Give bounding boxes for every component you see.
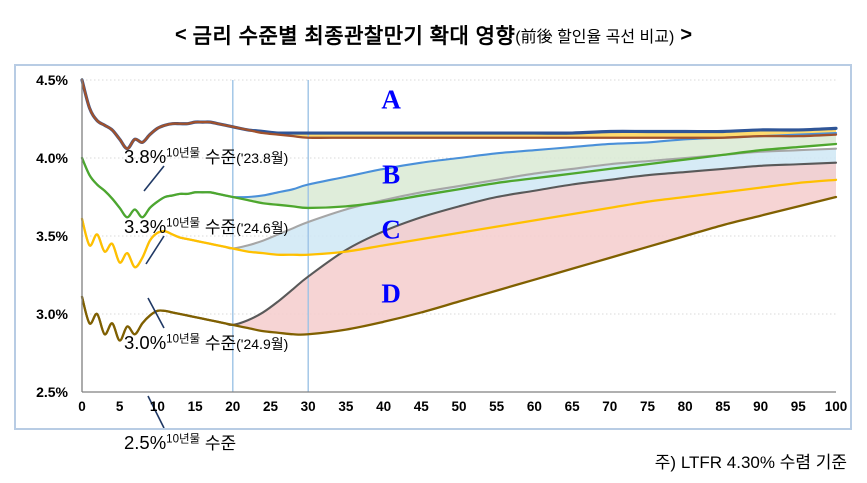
x-tick-label: 95 <box>778 399 818 414</box>
title-bracket-left: < <box>169 24 193 46</box>
band-letter-C: C <box>381 214 401 245</box>
annotation-value: 3.8% <box>124 146 166 167</box>
x-tick-label: 10 <box>137 399 177 414</box>
x-tick-label: 20 <box>213 399 253 414</box>
x-tick-label: 100 <box>816 399 856 414</box>
x-tick-label: 85 <box>703 399 743 414</box>
x-tick-label: 60 <box>514 399 554 414</box>
annotation-a4: 2.5%10년물 수준 <box>124 434 236 453</box>
footnote: 주) LTFR 4.30% 수렴 기준 <box>655 448 847 473</box>
annotation-unit: 수준 <box>200 148 236 167</box>
x-tick-label: 70 <box>590 399 630 414</box>
chart-page: <금리 수준별 최종관찰만기 확대 영향(前後 할인율 곡선 비교)> 2.5%… <box>0 0 867 483</box>
series-A-before <box>82 80 836 149</box>
x-tick-label: 45 <box>401 399 441 414</box>
x-tick-label: 15 <box>175 399 215 414</box>
annotation-value: 2.5% <box>124 432 166 453</box>
annotation-superscript: 10년물 <box>166 333 200 345</box>
y-tick-label: 3.0% <box>16 306 68 322</box>
annotation-superscript: 10년물 <box>166 217 200 229</box>
annotation-leader-line <box>146 236 164 264</box>
annotation-a1: 3.8%10년물 수준('23.8월) <box>124 148 288 167</box>
annotation-unit: 수준 <box>200 218 236 237</box>
annotation-superscript: 10년물 <box>166 433 200 445</box>
y-tick-label: 3.5% <box>16 228 68 244</box>
band-letter-A: A <box>381 85 401 116</box>
title-main: 금리 수준별 최종관찰만기 확대 영향 <box>193 25 516 48</box>
annotation-a2: 3.3%10년물 수준('24.6월) <box>124 218 288 237</box>
chart-frame: 2.5%3.0%3.5%4.0%4.5%05101520253035404550… <box>14 64 852 430</box>
x-tick-label: 50 <box>439 399 479 414</box>
annotation-value: 3.3% <box>124 216 166 237</box>
x-tick-label: 75 <box>628 399 668 414</box>
x-tick-label: 5 <box>100 399 140 414</box>
band-letter-B: B <box>382 160 400 191</box>
x-tick-label: 30 <box>288 399 328 414</box>
discount-rate-curve-chart <box>16 66 850 428</box>
y-tick-label: 4.5% <box>16 72 68 88</box>
x-tick-label: 55 <box>477 399 517 414</box>
annotation-date: ('24.9월) <box>236 336 288 352</box>
page-title: <금리 수준별 최종관찰만기 확대 영향(前後 할인율 곡선 비교)> <box>0 20 867 50</box>
x-tick-label: 0 <box>62 399 102 414</box>
x-tick-label: 90 <box>741 399 781 414</box>
x-tick-label: 65 <box>552 399 592 414</box>
annotation-date: ('24.6월) <box>236 220 288 236</box>
annotation-leader-line <box>144 166 164 191</box>
y-tick-label: 4.0% <box>16 150 68 166</box>
x-tick-label: 40 <box>364 399 404 414</box>
annotation-value: 3.0% <box>124 332 166 353</box>
title-sub: (前後 할인율 곡선 비교) <box>515 29 674 46</box>
annotation-unit: 수준 <box>200 434 236 453</box>
x-tick-label: 35 <box>326 399 366 414</box>
x-tick-label: 25 <box>251 399 291 414</box>
title-bracket-right: > <box>674 24 698 46</box>
annotation-unit: 수준 <box>200 334 236 353</box>
annotation-date: ('23.8월) <box>236 150 288 166</box>
annotation-a3: 3.0%10년물 수준('24.9월) <box>124 334 288 353</box>
band-letter-D: D <box>381 278 401 309</box>
annotation-leader-line <box>148 298 164 328</box>
annotation-superscript: 10년물 <box>166 147 200 159</box>
x-tick-label: 80 <box>665 399 705 414</box>
y-tick-label: 2.5% <box>16 384 68 400</box>
